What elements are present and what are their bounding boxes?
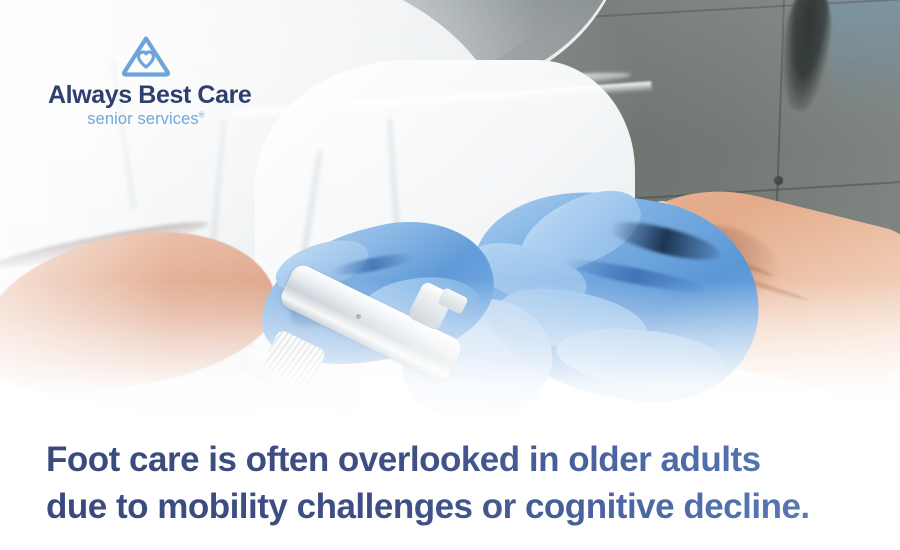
caption-line-2: due to mobility challenges or cognitive … [46, 483, 900, 530]
caption-block: Foot care is often overlooked in older a… [0, 422, 900, 550]
drill-button-icon [356, 314, 361, 319]
brand-tagline-text: senior services [87, 110, 199, 128]
triangle-heart-logo-icon [119, 34, 173, 78]
brand-name: Always Best Care [48, 82, 244, 108]
brand-logo[interactable]: Always Best Care senior services® [48, 34, 244, 130]
wall-highlight [828, 0, 900, 120]
registered-mark-icon: ® [199, 111, 205, 120]
wall-fixture-icon [774, 176, 783, 185]
brand-tagline: senior services® [48, 110, 244, 130]
promo-graphic: Always Best Care senior services® Foot c… [0, 0, 900, 550]
caption-line-1: Foot care is often overlooked in older a… [46, 422, 900, 483]
